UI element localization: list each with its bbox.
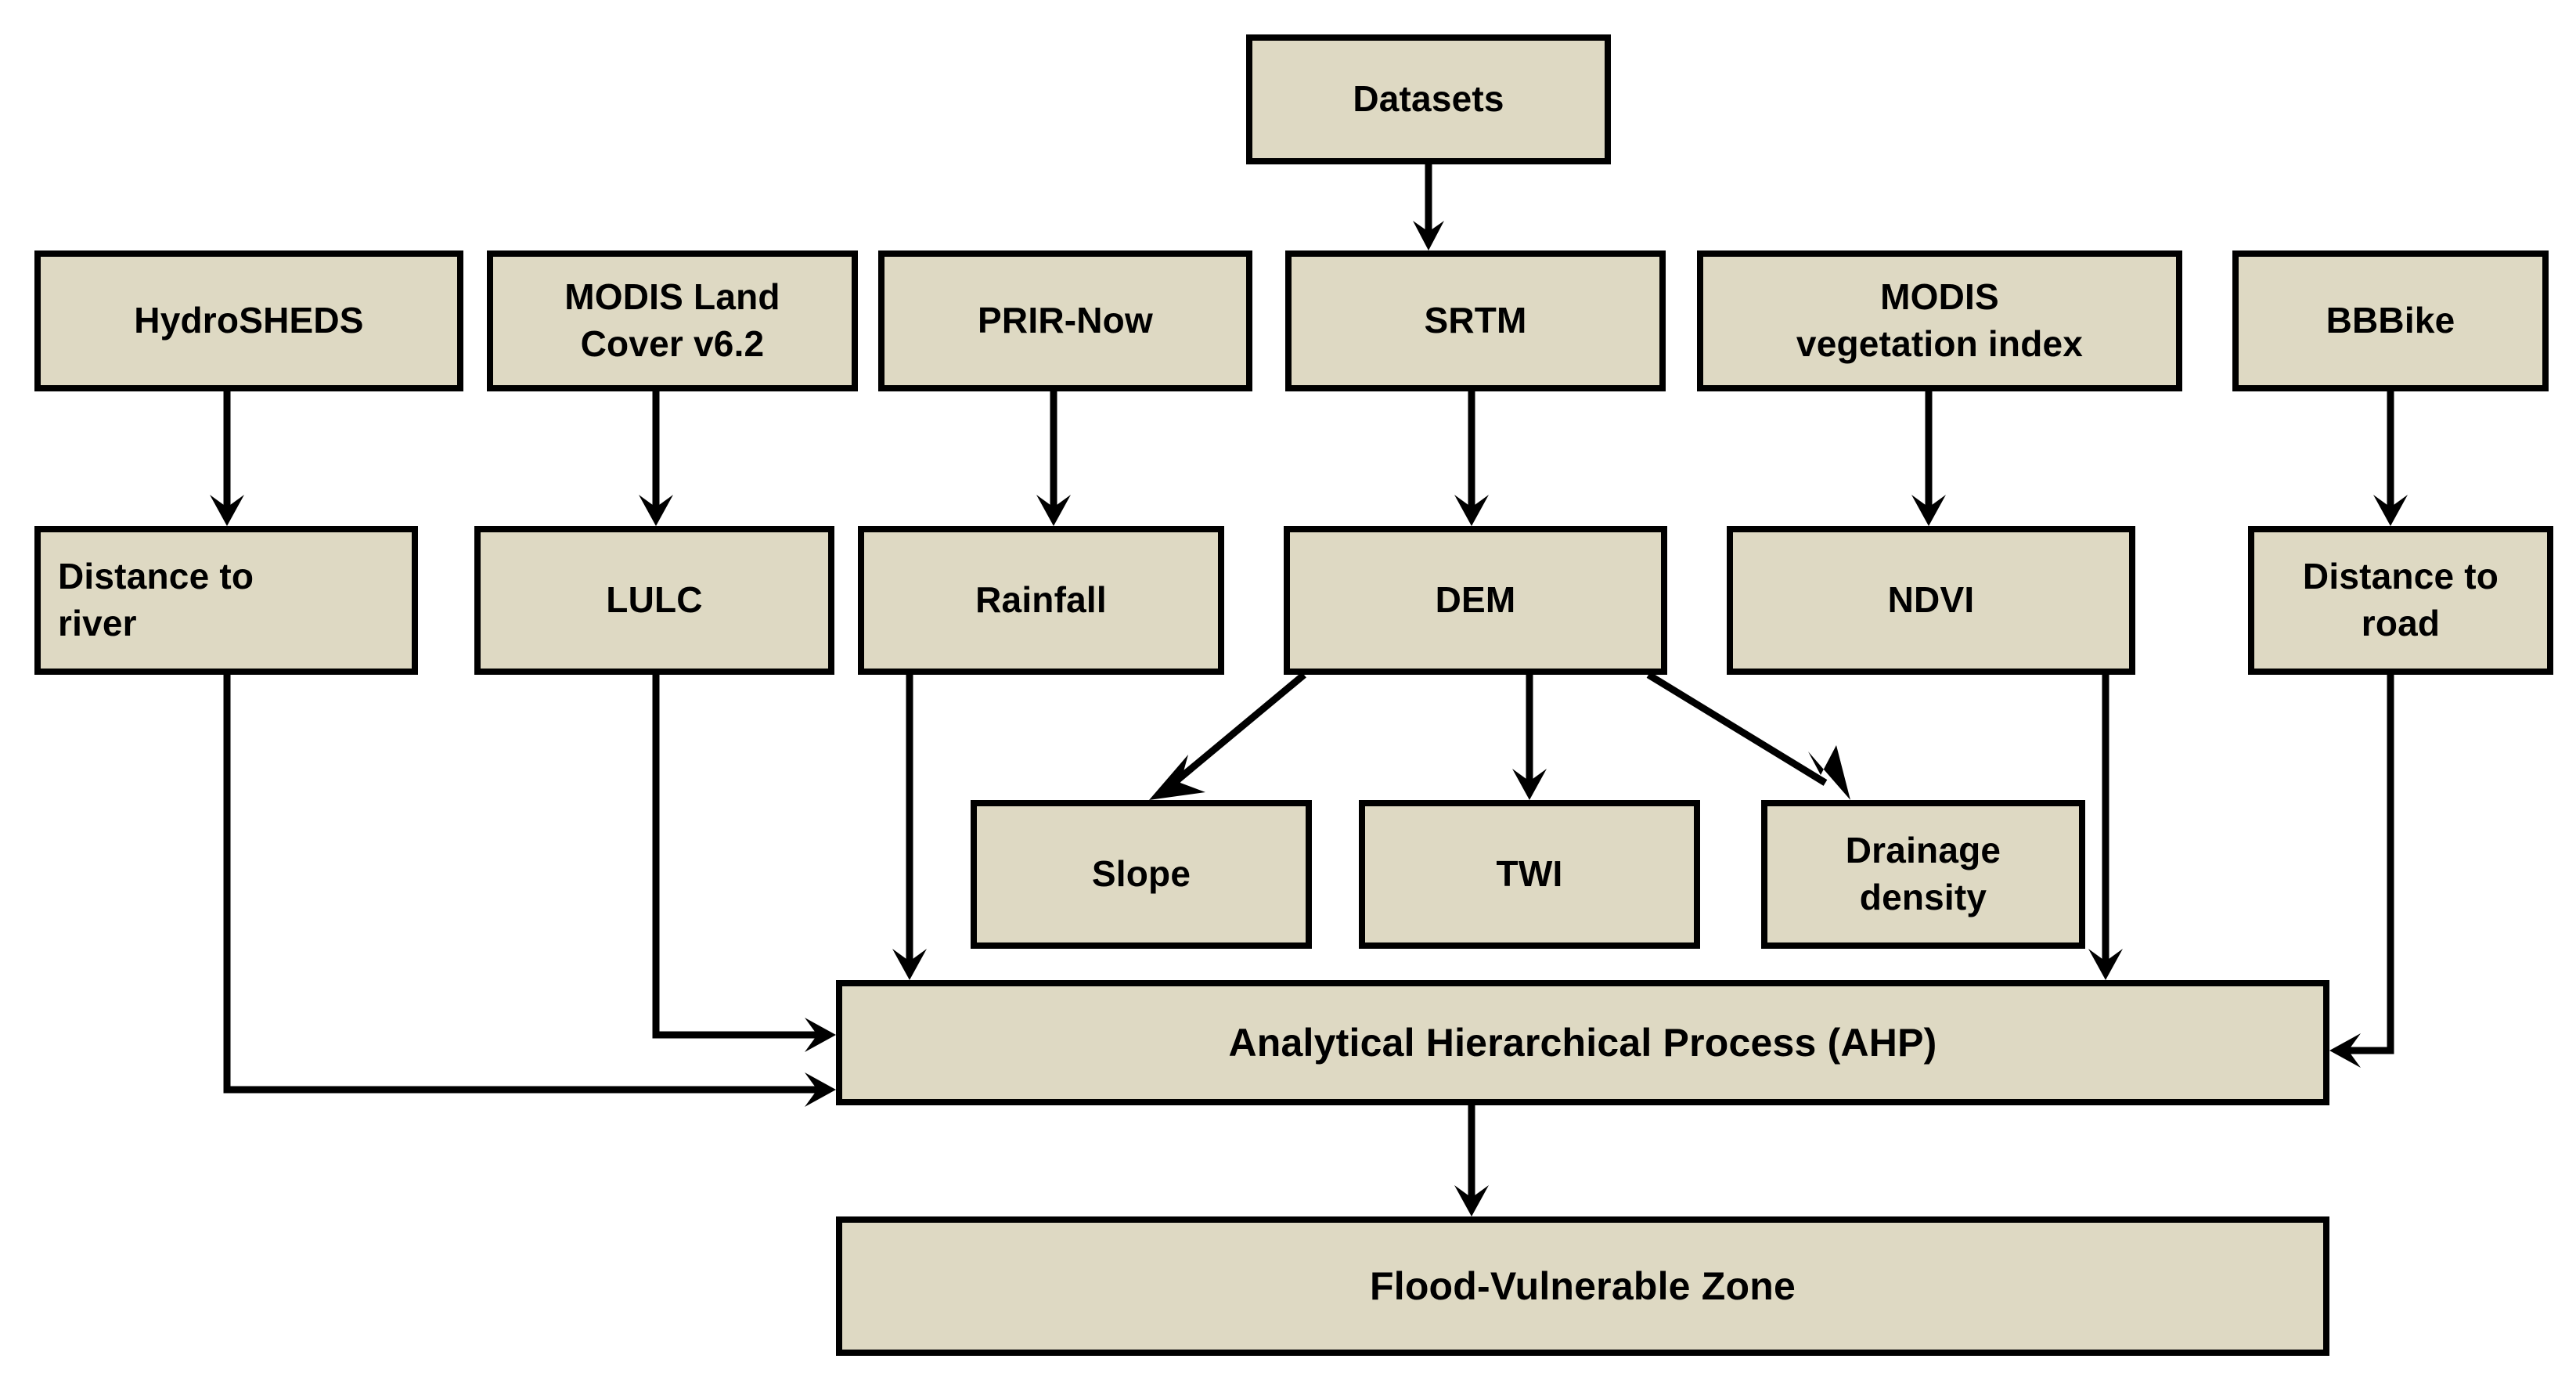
node-label-modis_lc: MODIS Land Cover v6.2: [557, 274, 787, 368]
node-datasets[interactable]: Datasets: [1246, 34, 1611, 164]
node-label-hydrosheds: HydroSHEDS: [126, 297, 371, 344]
node-label-dist_river: Distance to river: [41, 553, 261, 647]
node-drainage[interactable]: Drainage density: [1761, 800, 2085, 949]
node-flood_zone[interactable]: Flood-Vulnerable Zone: [836, 1216, 2329, 1356]
node-modis_veg[interactable]: MODIS vegetation index: [1697, 250, 2182, 391]
node-label-ndvi: NDVI: [1880, 577, 1983, 624]
node-hydrosheds[interactable]: HydroSHEDS: [34, 250, 463, 391]
edge-hydrosheds-distriver: [210, 391, 244, 526]
node-rainfall[interactable]: Rainfall: [858, 526, 1224, 675]
edge-modislc-lulc: [639, 391, 673, 526]
node-label-flood_zone: Flood-Vulnerable Zone: [1362, 1261, 1803, 1312]
edge-modisveg-ndvi: [1911, 391, 1946, 526]
edge-bbbike-distroad: [2373, 391, 2408, 526]
node-modis_lc[interactable]: MODIS Land Cover v6.2: [487, 250, 858, 391]
edge-distriver-ahp: [227, 675, 836, 1107]
flowchart-canvas: DatasetsHydroSHEDSMODIS Land Cover v6.2P…: [0, 0, 2576, 1384]
node-slope[interactable]: Slope: [971, 800, 1312, 949]
node-label-dist_road: Distance to road: [2295, 553, 2506, 647]
node-twi[interactable]: TWI: [1359, 800, 1700, 949]
edge-ndvi-ahp: [2088, 675, 2123, 980]
node-ahp[interactable]: Analytical Hierarchical Process (AHP): [836, 980, 2329, 1105]
node-label-twi: TWI: [1489, 851, 1571, 898]
edge-dem-drainage: [1648, 675, 1850, 800]
node-label-dem: DEM: [1428, 577, 1524, 624]
node-label-slope: Slope: [1084, 851, 1198, 898]
node-label-datasets: Datasets: [1345, 76, 1511, 123]
node-label-bbbike: BBBike: [2318, 297, 2463, 344]
node-ndvi[interactable]: NDVI: [1727, 526, 2135, 675]
node-label-prir_now: PRIR-Now: [970, 297, 1161, 344]
node-bbbike[interactable]: BBBike: [2232, 250, 2549, 391]
node-dem[interactable]: DEM: [1284, 526, 1667, 675]
edge-srtm-dem: [1454, 391, 1489, 526]
connector-layer: [0, 0, 2576, 1384]
edge-dem-slope: [1149, 675, 1304, 800]
node-srtm[interactable]: SRTM: [1285, 250, 1666, 391]
node-label-drainage: Drainage density: [1838, 827, 2009, 921]
edge-distroad-ahp: [2329, 675, 2390, 1068]
edge-datasets-srtm: [1413, 164, 1444, 250]
node-label-modis_veg: MODIS vegetation index: [1789, 274, 2091, 368]
node-dist_road[interactable]: Distance to road: [2248, 526, 2553, 675]
node-label-rainfall: Rainfall: [967, 577, 1115, 624]
node-label-ahp: Analytical Hierarchical Process (AHP): [1220, 1018, 1944, 1069]
edge-rainfall-ahp: [892, 675, 927, 980]
node-label-srtm: SRTM: [1416, 297, 1534, 344]
node-dist_river[interactable]: Distance to river: [34, 526, 418, 675]
node-prir_now[interactable]: PRIR-Now: [878, 250, 1252, 391]
edge-dem-twi: [1512, 675, 1547, 800]
edge-ahp-floodzone: [1454, 1105, 1489, 1216]
edge-prirnow-rainfall: [1036, 391, 1071, 526]
node-lulc[interactable]: LULC: [474, 526, 834, 675]
node-label-lulc: LULC: [598, 577, 710, 624]
edge-lulc-ahp: [656, 675, 836, 1052]
